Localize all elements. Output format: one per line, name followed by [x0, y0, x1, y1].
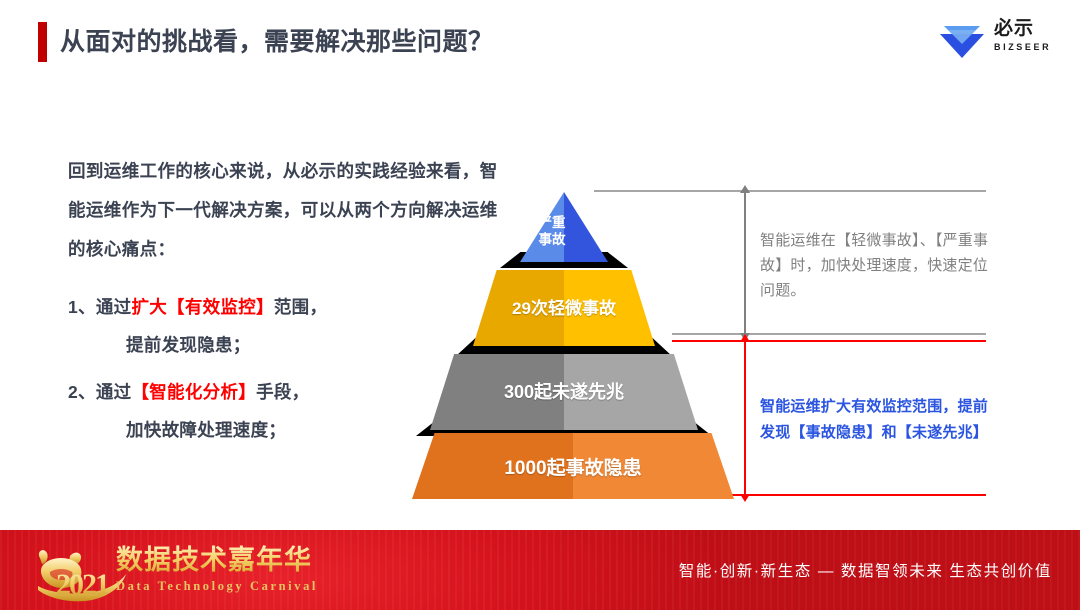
slide-header: 从面对的挑战看，需要解决那些问题？ 必示 BIZSEER: [0, 0, 1080, 86]
bullet-2-suffix: 手段，: [256, 382, 309, 402]
range-arrow-lower: [744, 341, 746, 495]
bizseer-chevron-icon: [938, 20, 986, 60]
pyramid-layer-near-miss: 300起未遂先兆: [430, 354, 698, 430]
bullet-1-prefix: 通过: [96, 297, 132, 317]
footer-brand: 数据技术嘉年华 Data Technology Carnival: [116, 544, 346, 594]
guide-line-top: [594, 190, 986, 192]
guide-line-bottom-red: [710, 494, 986, 496]
arrow-head-up-icon: [740, 185, 750, 193]
bullet-1-index: 1、: [68, 297, 96, 317]
bullet-2-index: 2、: [68, 382, 96, 402]
brand-name-en: BIZSEER: [994, 41, 1064, 53]
bullet-2-highlight: 【智能化分析】: [131, 382, 256, 402]
brand-name-cn: 必示: [994, 18, 1064, 40]
pyramid-layer-hazard: 1000起事故隐患: [412, 433, 734, 499]
arrow-head-up-icon: [740, 334, 750, 342]
footer-title-en: Data Technology Carnival: [116, 578, 346, 594]
pyramid-label-minor: 29次轻微事故: [473, 294, 655, 319]
annotation-upper: 智能运维在【轻微事故】、【严重事故】时，加快处理速度，快速定位问题。: [760, 228, 992, 303]
title-accent-bar: [38, 22, 47, 62]
bullet-2-prefix: 通过: [96, 382, 132, 402]
guide-line-middle-gray: [672, 333, 986, 335]
annotation-lower: 智能运维扩大有效监控范围，提前发现【事故隐患】和【未遂先兆】: [760, 394, 992, 446]
pyramid-label-near-miss: 300起未遂先兆: [430, 378, 698, 404]
pyramid-label-severe-text: 严重事故: [520, 214, 584, 248]
pyramid-layer-minor: 29次轻微事故: [473, 270, 655, 346]
range-arrow-upper: [744, 192, 746, 334]
brand-logo: 必示 BIZSEER: [938, 16, 1058, 64]
bullet-1-suffix: 范围，: [274, 297, 327, 317]
footer-slogan: 智能·创新·新生态 — 数据智领未来 生态共创价值: [679, 559, 1052, 581]
brand-text: 必示 BIZSEER: [994, 18, 1064, 53]
arrow-head-down-icon: [740, 494, 750, 502]
slide-footer: 2021 数据技术嘉年华 Data Technology Carnival 智能…: [0, 530, 1080, 610]
bullet-1-highlight: 扩大【有效监控】: [131, 297, 273, 317]
page-title: 从面对的挑战看，需要解决那些问题？: [60, 22, 494, 62]
svg-text:2021: 2021: [56, 568, 109, 601]
footer-title-cn: 数据技术嘉年华: [116, 544, 346, 577]
guide-line-middle-red: [672, 340, 986, 342]
pyramid-label-hazard: 1000起事故隐患: [412, 453, 734, 480]
